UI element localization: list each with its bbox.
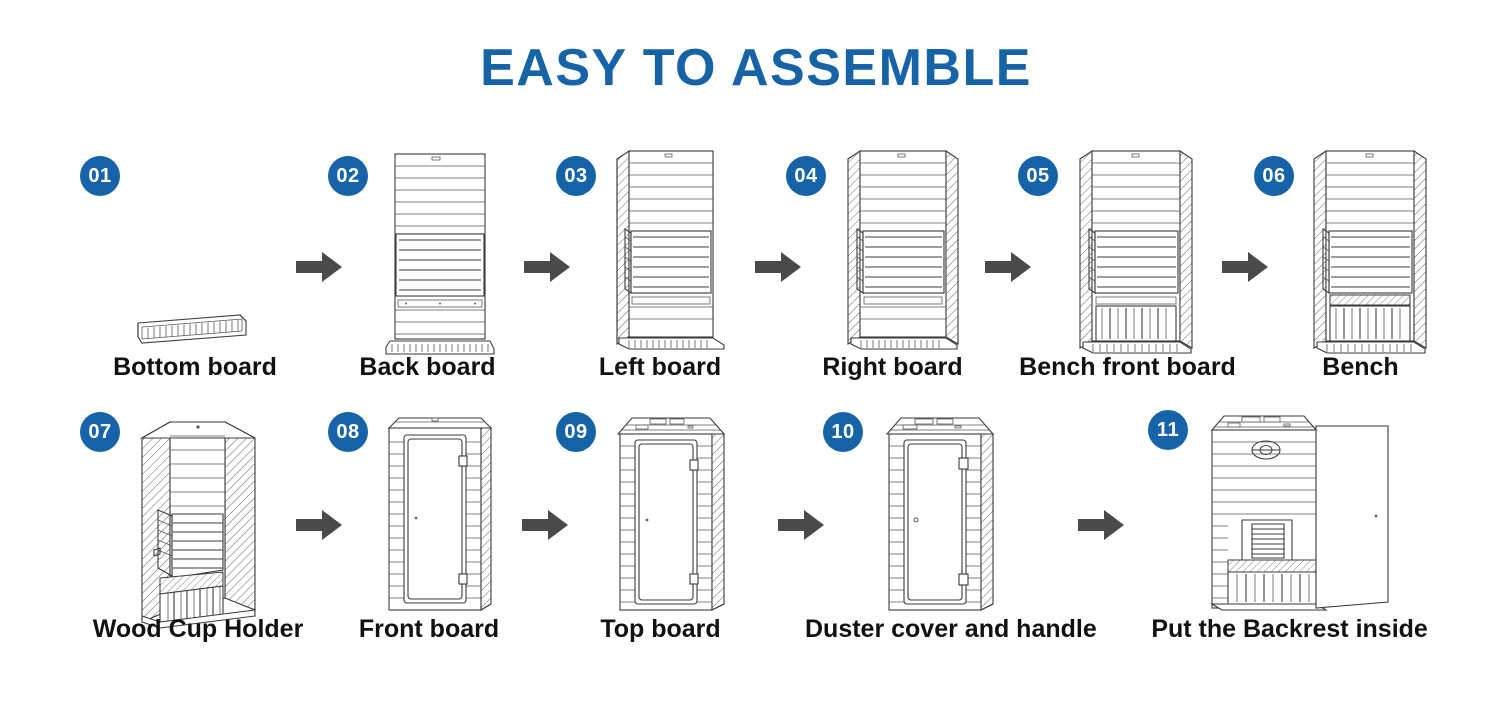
assembly-step-03: 03 Left board [550, 140, 770, 390]
step-caption-09: Top board [548, 615, 773, 644]
step-caption-08: Front board [318, 615, 540, 644]
art-back-board [380, 148, 500, 360]
step-caption-10: Duster cover and handle [805, 615, 1085, 644]
step-badge-07: 07 [80, 412, 120, 452]
art-duster-cover-and-handle [875, 408, 1003, 620]
art-bench-front-board [1072, 145, 1206, 360]
art-left-board [607, 145, 733, 360]
step-caption-03: Left board [550, 353, 770, 382]
assembly-step-05: 05 Bench front board [1010, 140, 1245, 390]
step-caption-07: Wood Cup Holder [58, 615, 338, 644]
assembly-step-02: 02 Back board [320, 140, 535, 390]
step-badge-01: 01 [80, 156, 120, 196]
step-badge-03: 03 [556, 156, 596, 196]
art-bottom-board [130, 305, 250, 350]
art-bench [1306, 145, 1440, 360]
assembly-step-11: 11 [1118, 400, 1448, 650]
assembly-step-10: 10 Dus [805, 400, 1085, 650]
step-badge-06: 06 [1254, 156, 1294, 196]
step-caption-01: Bottom board [60, 353, 330, 382]
assembly-step-08: 08 Front board [318, 400, 540, 650]
assembly-row-1: 01 Bottom board 02 [0, 140, 1512, 390]
step-caption-11: Put the Backrest inside [1125, 615, 1455, 644]
step-badge-09: 09 [556, 412, 596, 452]
art-top-board [606, 408, 734, 620]
step-badge-02: 02 [328, 156, 368, 196]
art-put-the-backrest-inside [1180, 408, 1394, 620]
step-badge-10: 10 [823, 412, 863, 452]
art-right-board [840, 145, 972, 360]
art-front-board [375, 408, 503, 620]
step-badge-04: 04 [786, 156, 826, 196]
assembly-step-04: 04 Right board [780, 140, 1005, 390]
step-badge-05: 05 [1018, 156, 1058, 196]
assembly-step-09: 09 Top [548, 400, 773, 650]
step-caption-05: Bench front board [1010, 353, 1245, 382]
assembly-step-06: 06 Bench [1248, 140, 1473, 390]
step-caption-02: Back board [320, 353, 535, 382]
step-caption-06: Bench [1248, 353, 1473, 382]
assembly-step-01: 01 Bottom board [60, 140, 330, 390]
step-badge-08: 08 [328, 412, 368, 452]
art-wood-cup-holder [130, 410, 270, 625]
assembly-row-2: 07 Wood Cup Holder [0, 400, 1512, 650]
step-caption-04: Right board [780, 353, 1005, 382]
page-title: EASY TO ASSEMBLE [0, 38, 1512, 98]
